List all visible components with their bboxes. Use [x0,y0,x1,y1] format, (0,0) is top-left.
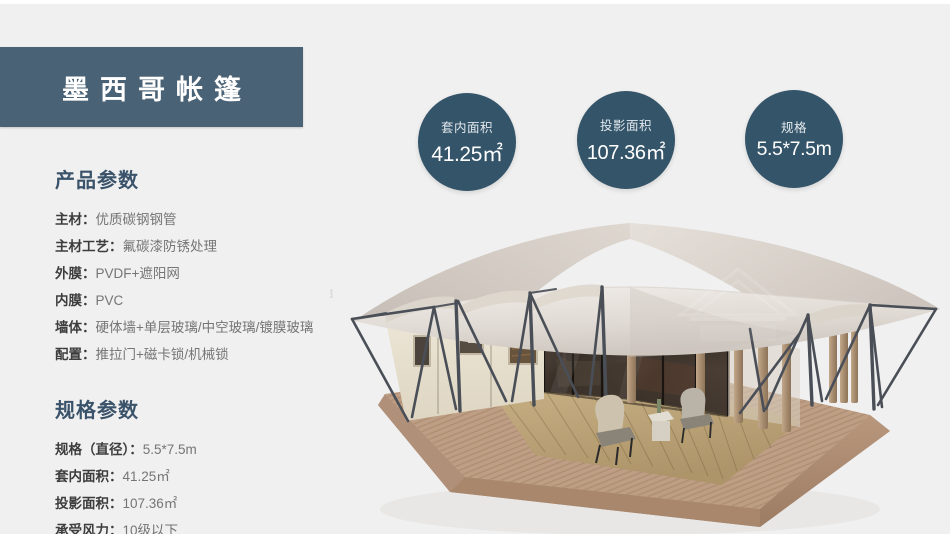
tent-render-image: 图 [330,209,950,534]
spec-value: 41.25㎡ [123,469,170,484]
stat-badge-group: 套内面积 41.25㎡ 投影面积 107.36㎡ 规格 5.5*7.5m [405,88,865,200]
badge-value: 41.25㎡ [431,138,502,168]
spec-label: 外膜： [55,266,96,281]
spec-value: 氟碳漆防锈处理 [123,239,218,254]
spec-value: 107.36㎡ [123,496,178,511]
spec-label: 套内面积： [55,469,123,484]
spec-label: 主材工艺： [55,239,123,254]
spec-section-heading: 规格参数 [55,394,355,423]
spec-label: 配置： [55,347,96,362]
spec-value: PVC [96,293,124,308]
spec-value: 10级以下 [123,523,179,534]
spec-row: 主材工艺：氟碳漆防锈处理 [55,233,355,260]
spec-label: 墙体： [55,320,96,335]
title-banner: 墨西哥帐篷 [0,47,303,127]
spec-row: 主材：优质碳钢钢管 [55,206,355,233]
stat-badge-projected-area: 投影面积 107.36㎡ [577,91,675,189]
spec-label: 投影面积： [55,496,123,511]
spec-row: 墙体：硬体墙+单层玻璃/中空玻璃/镀膜玻璃 [55,314,355,341]
spec-row: 规格（直径）：5.5*7.5m [55,436,355,463]
spec-value: 优质碳钢钢管 [96,212,177,227]
spec-value: 5.5*7.5m [143,442,197,457]
badge-label: 规格 [781,117,807,136]
spec-row: 投影面积：107.36㎡ [55,490,355,517]
spec-label: 内膜： [55,293,96,308]
product-section-heading: 产品参数 [55,164,355,193]
tent-3d-illustration [330,209,950,534]
badge-label: 套内面积 [441,117,493,136]
badge-label: 投影面积 [600,115,652,134]
spec-row: 承受风力：10级以下 [55,517,355,534]
spec-row: 外膜：PVDF+遮阳网 [55,260,355,287]
spec-row: 内膜：PVC [55,287,355,314]
stat-badge-interior-area: 套内面积 41.25㎡ [418,93,516,191]
spec-value: PVDF+遮阳网 [96,266,180,281]
spec-label: 规格（直径）： [55,442,143,457]
stat-badge-dimensions: 规格 5.5*7.5m [745,90,843,188]
spec-label: 承受风力： [55,523,123,534]
badge-value: 5.5*7.5m [757,138,832,161]
spec-row: 套内面积：41.25㎡ [55,463,355,490]
spec-value: 硬体墙+单层玻璃/中空玻璃/镀膜玻璃 [96,320,314,335]
spec-row: 配置：推拉门+磁卡锁/机械锁 [55,341,355,368]
poster-page: 墨西哥帐篷 产品参数 主材：优质碳钢钢管 主材工艺：氟碳漆防锈处理 外膜：PVD… [0,0,950,534]
badge-value: 107.36㎡ [587,136,665,165]
specification-panel: 产品参数 主材：优质碳钢钢管 主材工艺：氟碳漆防锈处理 外膜：PVDF+遮阳网 … [55,164,355,534]
spec-label: 主材： [55,212,96,227]
page-title: 墨西哥帐篷 [51,68,252,107]
spec-value: 推拉门+磁卡锁/机械锁 [96,347,229,362]
